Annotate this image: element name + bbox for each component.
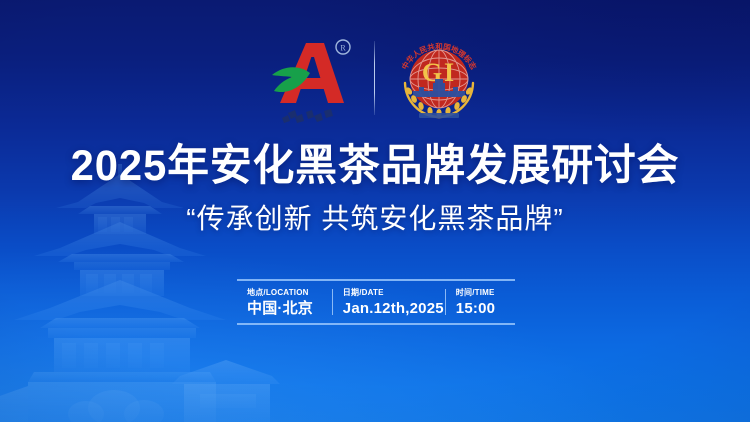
event-info-bar: 地点/LOCATION 中国·北京 日期/DATE Jan.12th,2025 … [237,279,515,325]
page-title: 2025年安化黑茶品牌发展研讨会 [11,140,739,192]
event-poster: R [0,0,750,422]
logo-divider [374,41,375,115]
china-geographical-indication-seal: GI [389,29,489,127]
location-value: 中国·北京 [247,299,323,318]
info-cell-location: 地点/LOCATION 中国·北京 [237,281,332,323]
logo-row: R [0,26,750,130]
info-cell-date: 日期/DATE Jan.12th,2025 [333,281,445,323]
location-label: 地点/LOCATION [247,287,323,298]
svg-text:R: R [340,44,346,53]
anhua-dark-tea-logo: R [262,29,358,127]
time-value: 15:00 [456,299,506,318]
info-cell-time: 时间/TIME 15:00 [446,281,515,323]
date-value: Jan.12th,2025 [343,299,436,318]
date-label: 日期/DATE [343,287,436,298]
time-label: 时间/TIME [456,287,506,298]
page-subtitle: “传承创新 共筑安化黑茶品牌” [0,200,750,238]
